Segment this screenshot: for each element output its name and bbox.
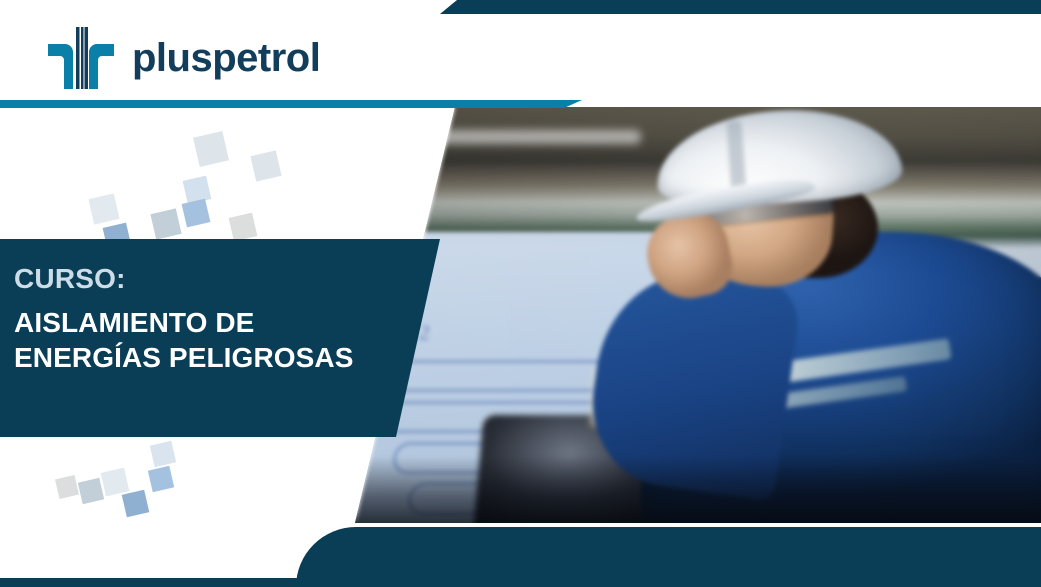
- decorative-square: [78, 478, 104, 504]
- teal-divider-rule: [0, 100, 582, 108]
- decorative-square: [55, 475, 79, 499]
- white-hard-hat: [653, 107, 903, 211]
- course-title-line-2: ENERGÍAS PELIGROSAS: [14, 340, 394, 375]
- photo-bottom-shadow: [300, 456, 1041, 523]
- decorative-square: [148, 466, 174, 492]
- pluspetrol-logo-mark-icon: [48, 27, 114, 89]
- decorative-square: [101, 468, 130, 497]
- brand-logo[interactable]: pluspetrol: [48, 27, 320, 89]
- course-title-block: CURSO: AISLAMIENTO DE ENERGÍAS PELIGROSA…: [0, 239, 440, 437]
- top-accent-bar: [440, 0, 1041, 14]
- bottom-edge-strip: [0, 578, 1041, 587]
- decorative-square: [229, 213, 258, 242]
- brand-wordmark: pluspetrol: [132, 38, 320, 78]
- course-banner-slide: P CIAL 2 A: [0, 0, 1041, 587]
- decorative-square: [193, 131, 229, 167]
- decorative-square: [183, 176, 212, 205]
- decorative-square: [150, 208, 181, 239]
- decorative-square: [250, 150, 281, 181]
- decorative-square: [122, 490, 150, 518]
- course-label: CURSO:: [14, 263, 394, 295]
- decorative-square: [150, 441, 176, 467]
- course-title-line-1: AISLAMIENTO DE: [14, 305, 394, 340]
- decorative-square: [182, 199, 211, 228]
- decorative-square: [88, 193, 119, 224]
- ceiling-light-glow: [419, 130, 641, 145]
